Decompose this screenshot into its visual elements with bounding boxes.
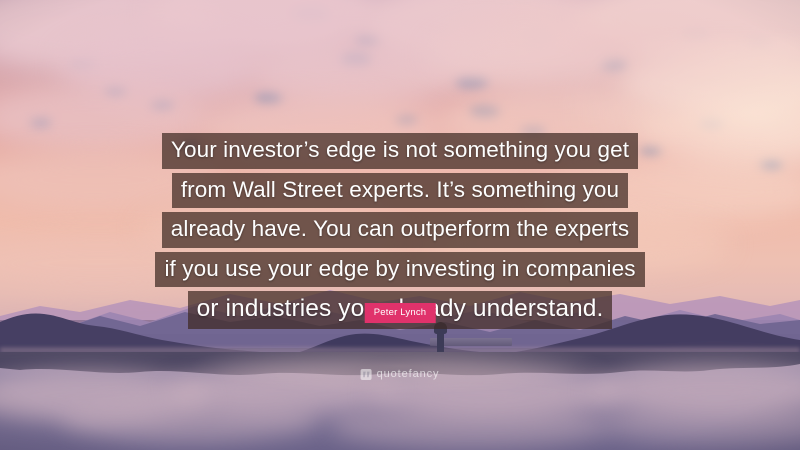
cloud-reflections <box>0 352 800 450</box>
quote-mark-icon <box>361 369 372 380</box>
watermark[interactable]: quotefancy <box>361 368 440 380</box>
quote-line-3: already have. You can outperform the exp… <box>162 212 638 248</box>
quote-line-1: Your investor’s edge is not something yo… <box>162 133 638 169</box>
cloud-reflection <box>330 404 610 448</box>
cloud-reflection <box>600 402 800 444</box>
cloud-reflection <box>60 398 320 442</box>
quote-line-2: from Wall Street experts. It’s something… <box>172 173 628 209</box>
quote-line-4: if you use your edge by investing in com… <box>155 252 644 288</box>
quote-poster: Your investor’s edge is not something yo… <box>0 0 800 450</box>
reflective-lake <box>0 352 800 450</box>
quote-text: Your investor’s edge is not something yo… <box>0 133 800 329</box>
watermark-text: quotefancy <box>377 368 440 380</box>
author-badge[interactable]: Peter Lynch <box>365 303 436 323</box>
